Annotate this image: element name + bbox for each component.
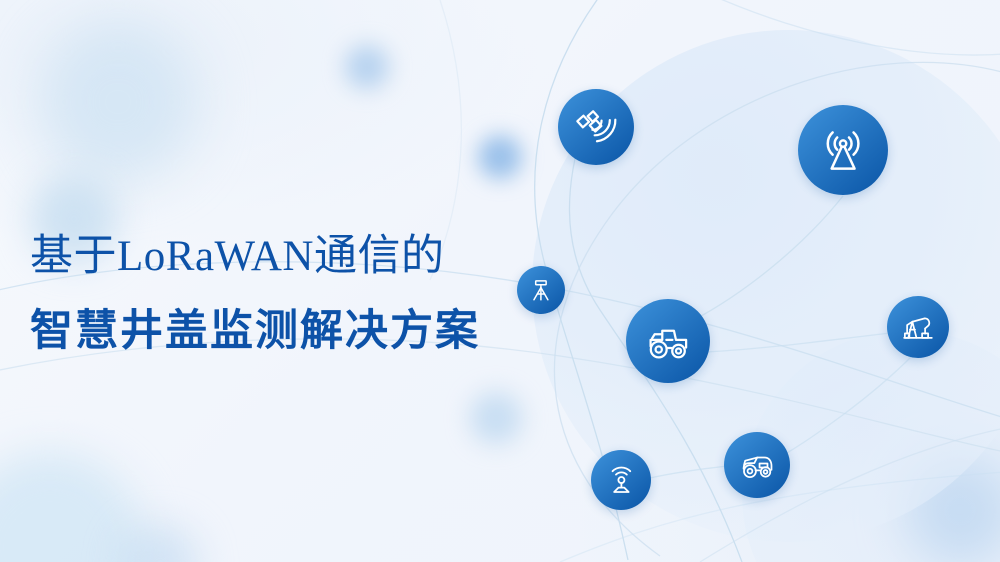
presentation-cover-slide: 基于LoRaWAN通信的 智慧井盖监测解决方案	[0, 0, 1000, 562]
title-line-1: 基于LoRaWAN通信的	[30, 224, 480, 289]
background-blob	[478, 135, 522, 179]
harvester-icon[interactable]	[724, 432, 790, 498]
title-line-2: 智慧井盖监测解决方案	[30, 299, 480, 364]
oil-pumpjack-icon-glyph	[900, 309, 936, 345]
background-blob	[0, 452, 145, 562]
tractor-icon-glyph	[644, 317, 693, 366]
survey-tripod-icon[interactable]	[517, 266, 565, 314]
harvester-icon-glyph	[738, 446, 776, 484]
wireless-sensor-icon[interactable]	[591, 450, 651, 510]
background-blob	[120, 524, 200, 562]
oil-pumpjack-icon[interactable]	[887, 296, 949, 358]
satellite-dish-icon-glyph	[574, 105, 618, 149]
tractor-icon[interactable]	[626, 299, 710, 383]
satellite-dish-icon[interactable]	[558, 89, 634, 165]
background-blob	[470, 392, 522, 444]
radio-tower-icon[interactable]	[798, 105, 888, 195]
wireless-sensor-icon-glyph	[604, 463, 639, 498]
slide-title: 基于LoRaWAN通信的 智慧井盖监测解决方案	[30, 224, 480, 365]
background-blob	[345, 45, 389, 89]
background-blob	[38, 22, 198, 182]
radio-tower-icon-glyph	[817, 124, 869, 176]
background-blob	[905, 455, 1000, 562]
survey-tripod-icon-glyph	[527, 276, 555, 304]
